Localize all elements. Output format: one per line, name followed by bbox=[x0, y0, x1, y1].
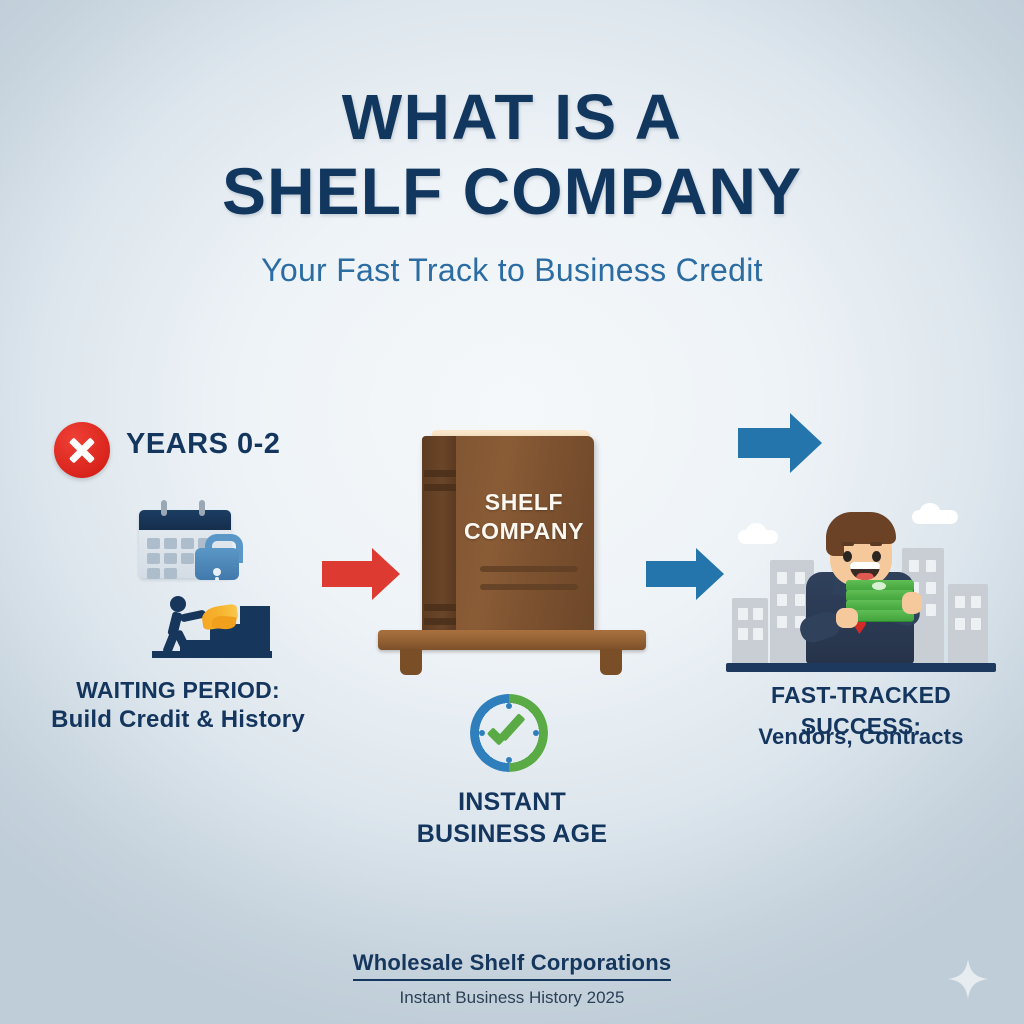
building-window bbox=[971, 618, 981, 630]
calendar-ring-right bbox=[199, 500, 205, 516]
hand-right bbox=[902, 592, 922, 614]
calendar-cell bbox=[147, 553, 160, 564]
arrow-shaft bbox=[738, 428, 792, 458]
shelf-plank bbox=[378, 630, 646, 650]
calendar-cell bbox=[181, 553, 194, 564]
ground-bar bbox=[726, 663, 996, 672]
title-line-1: WHAT IS A bbox=[0, 80, 1024, 154]
clock-tick bbox=[506, 757, 512, 763]
center-caption-line-1: INSTANT bbox=[362, 786, 662, 819]
sparkle-icon bbox=[946, 957, 990, 1001]
spine-band bbox=[424, 470, 456, 477]
shelf-leg bbox=[400, 649, 422, 675]
calendar-cell bbox=[147, 568, 160, 579]
wooden-shelf bbox=[378, 630, 646, 674]
book-rule bbox=[480, 566, 578, 572]
banknote-seal bbox=[872, 582, 886, 590]
title-line-2: SHELF COMPANY bbox=[0, 154, 1024, 228]
red-x-icon bbox=[54, 422, 110, 478]
blue-right-arrow-icon bbox=[646, 548, 724, 600]
building-window bbox=[777, 572, 787, 584]
building bbox=[948, 584, 988, 664]
padlock-icon bbox=[195, 534, 239, 580]
building-window bbox=[738, 628, 748, 640]
calendar-cell bbox=[164, 553, 177, 564]
poster-subtitle: Your Fast Track to Business Credit bbox=[0, 252, 1024, 289]
left-caption-line-2: Build Credit & History bbox=[28, 704, 328, 736]
person-climbing-stairs-icon bbox=[128, 590, 268, 658]
eye-right bbox=[872, 551, 881, 562]
spine-band bbox=[424, 604, 456, 611]
right-caption-line-2: Vendors, Contracts bbox=[716, 722, 1006, 752]
building-window bbox=[971, 596, 981, 608]
arrow-shaft bbox=[646, 561, 698, 587]
book-title-line-1: SHELF bbox=[458, 488, 590, 517]
blue-up-right-arrow-icon bbox=[738, 413, 822, 473]
building-window bbox=[738, 608, 748, 620]
book-title-line-2: COMPANY bbox=[458, 517, 590, 546]
brand-tagline: Instant Business History 2025 bbox=[0, 988, 1024, 1008]
building-window bbox=[926, 560, 936, 572]
infographic-poster: WHAT IS A SHELF COMPANY Your Fast Track … bbox=[0, 0, 1024, 1024]
eyebrow-left bbox=[842, 542, 854, 546]
arrow-head bbox=[372, 548, 400, 600]
building-window bbox=[926, 582, 936, 594]
clock-tick bbox=[479, 730, 485, 736]
calendar-lock-icon bbox=[133, 498, 251, 580]
building bbox=[732, 598, 768, 664]
runner-head bbox=[170, 596, 186, 612]
cloud-icon bbox=[738, 530, 778, 544]
poster-footer: Wholesale Shelf Corporations Instant Bus… bbox=[0, 950, 1024, 1008]
building-window bbox=[955, 596, 965, 608]
building-window bbox=[753, 608, 763, 620]
eye-left bbox=[843, 551, 852, 562]
check-mark-icon bbox=[490, 718, 530, 742]
clock-tick bbox=[506, 703, 512, 709]
arrow-head bbox=[790, 413, 822, 473]
spine-band bbox=[424, 484, 456, 491]
left-panel-waiting-period: YEARS 0-2 bbox=[28, 420, 328, 482]
calendar-cell bbox=[164, 538, 177, 549]
building-window bbox=[926, 604, 936, 616]
center-caption-line-2: BUSINESS AGE bbox=[362, 818, 662, 851]
calendar-cell bbox=[147, 538, 160, 549]
book-rule bbox=[480, 584, 578, 590]
building-window bbox=[777, 616, 787, 628]
businessman-figure bbox=[798, 502, 924, 664]
calendar-ring-left bbox=[161, 500, 167, 516]
shelf-leg bbox=[600, 649, 622, 675]
clock-check-icon bbox=[470, 694, 548, 772]
years-label: YEARS 0-2 bbox=[126, 428, 280, 461]
building-window bbox=[777, 594, 787, 606]
businessman-with-cash-icon bbox=[726, 484, 996, 674]
arrow-head bbox=[696, 548, 724, 600]
eyebrow-right bbox=[870, 542, 882, 546]
brand-name: Wholesale Shelf Corporations bbox=[353, 950, 672, 981]
building-window bbox=[955, 618, 965, 630]
red-right-arrow-icon bbox=[322, 548, 400, 600]
spine-band bbox=[424, 618, 456, 625]
hand-left bbox=[836, 608, 858, 628]
teeth bbox=[850, 562, 880, 569]
book-spine bbox=[422, 436, 456, 642]
calendar-header bbox=[139, 510, 231, 530]
building-window bbox=[753, 628, 763, 640]
book-title: SHELF COMPANY bbox=[458, 488, 590, 546]
shelf-company-book: SHELF COMPANY bbox=[422, 430, 594, 642]
years-badge-row: YEARS 0-2 bbox=[28, 420, 328, 482]
clock-tick bbox=[533, 730, 539, 736]
poster-header: WHAT IS A SHELF COMPANY Your Fast Track … bbox=[0, 80, 1024, 289]
calendar-cell bbox=[181, 538, 194, 549]
arrow-shaft bbox=[322, 561, 374, 587]
left-caption-line-1: WAITING PERIOD: bbox=[28, 675, 328, 705]
padlock-keyhole bbox=[213, 568, 221, 576]
calendar-cell bbox=[164, 568, 177, 579]
